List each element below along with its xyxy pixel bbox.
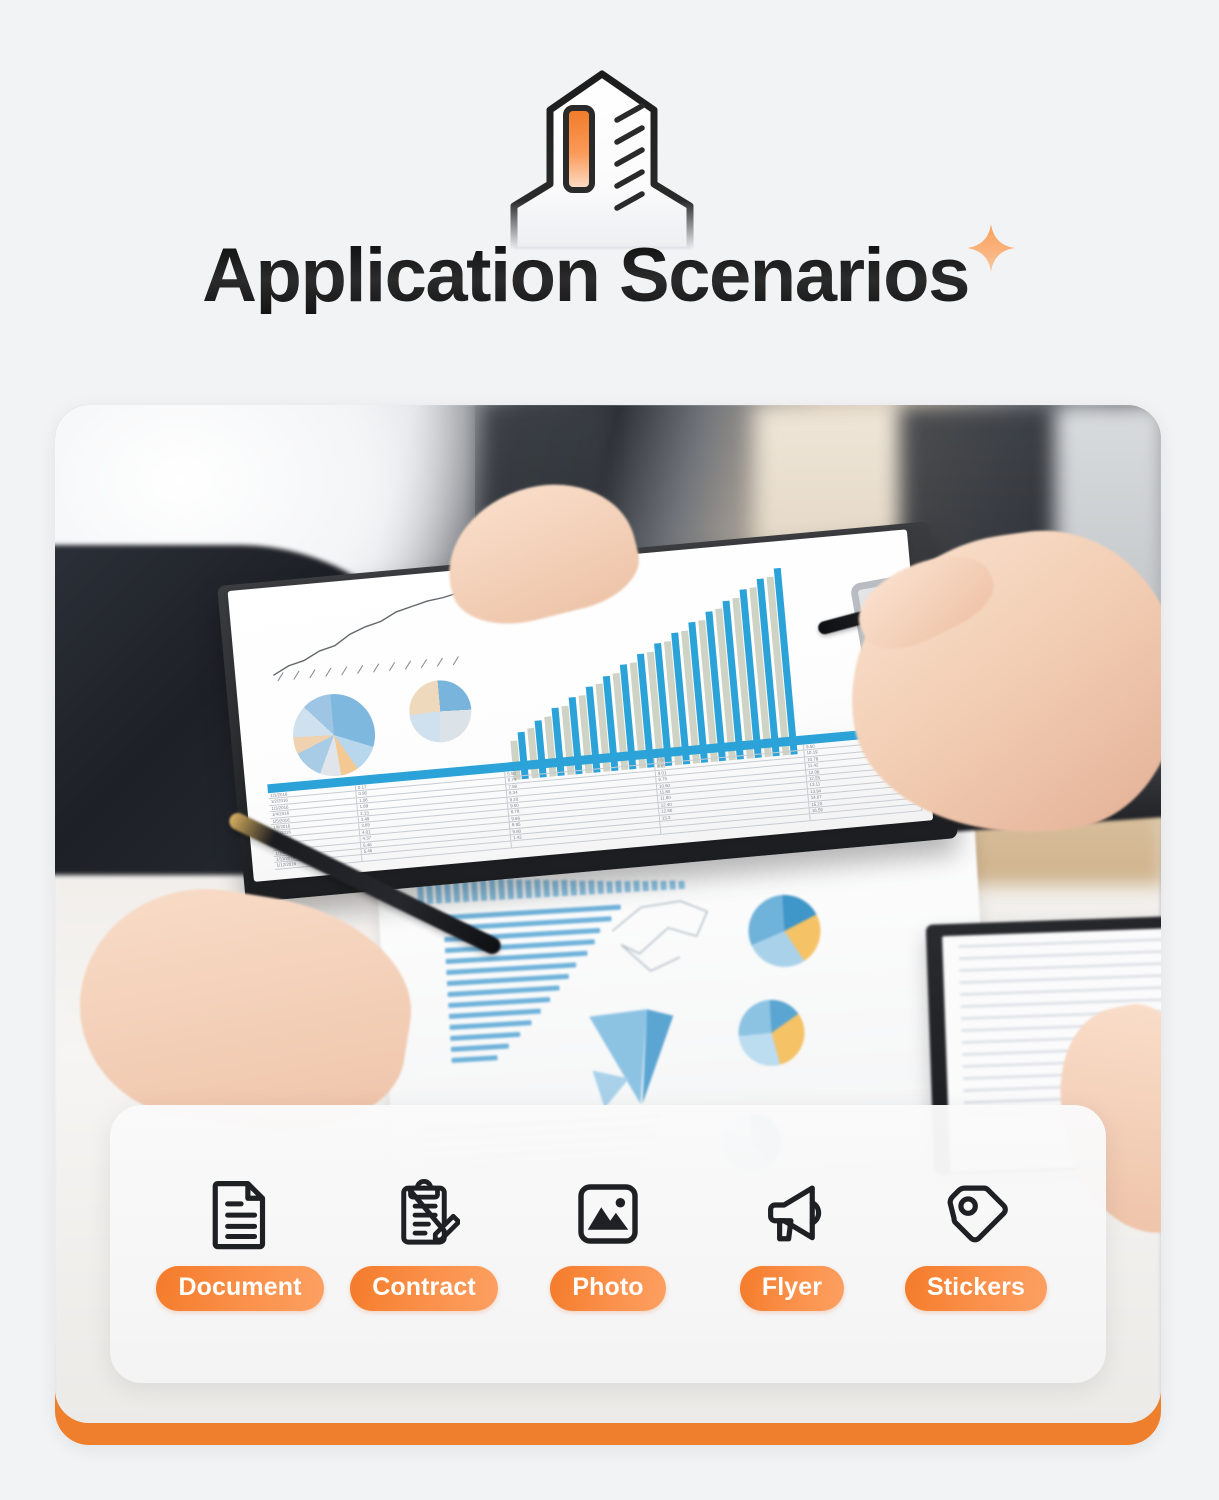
category-pill-stickers[interactable]: Stickers [905,1266,1047,1311]
scenario-category-panel: DocumentContractPhotoFlyerStickers [110,1105,1106,1383]
business-meeting-clipboard-photo: 1/1/20160.175.507.609.501/2/20160.956.74… [55,405,1161,1423]
tag-icon [940,1178,1012,1250]
scenario-category-contract[interactable]: Contract [336,1178,512,1311]
page-title-row: Application Scenarios [0,238,1219,314]
desk-report-pie-1 [746,893,822,969]
page-title: Application Scenarios [202,238,969,314]
desk-report-funnel-chart [585,1005,687,1111]
document-icon [204,1178,276,1250]
photo-icon [572,1178,644,1250]
scenario-category-document[interactable]: Document [152,1178,328,1311]
category-pill-contract[interactable]: Contract [350,1266,498,1311]
contract-icon [388,1178,460,1250]
desk-report-pie-2 [737,998,807,1068]
category-pill-document[interactable]: Document [156,1266,323,1311]
category-pill-photo[interactable]: Photo [550,1266,665,1311]
building-tower-icon [494,68,710,250]
sparkle-star-icon [965,222,1017,274]
scenario-category-stickers[interactable]: Stickers [888,1178,1064,1311]
clipboard-pie-chart-2 [407,678,474,745]
desk-report-line-chart [606,895,720,979]
scenario-category-photo[interactable]: Photo [520,1178,696,1311]
header-section: Application Scenarios [0,0,1219,400]
clipboard-line-chart [261,587,477,684]
category-pill-flyer[interactable]: Flyer [740,1266,844,1311]
scenario-category-flyer[interactable]: Flyer [704,1178,880,1311]
photo-card: 1/1/20160.175.507.609.501/2/20160.956.74… [55,405,1161,1445]
clipboard-pie-chart-1 [290,691,379,780]
page-root: Application Scenarios [0,0,1219,1500]
megaphone-icon [756,1178,828,1250]
